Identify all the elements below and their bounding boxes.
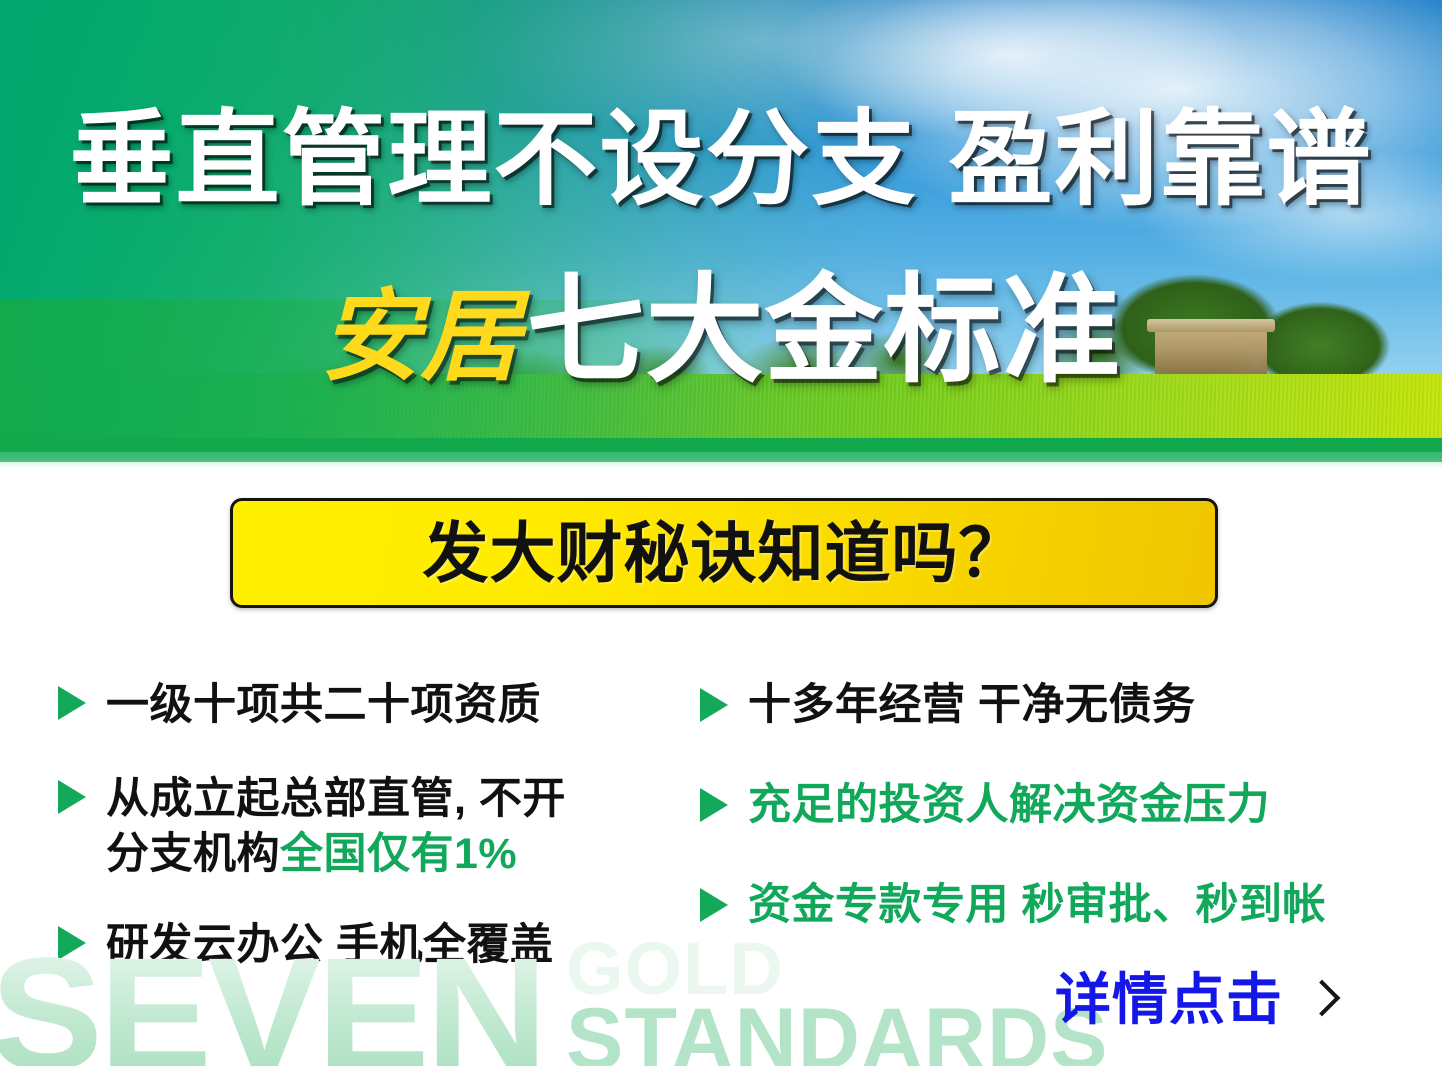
promo-poster: 垂直管理不设分支 盈利靠谱 安居七大金标准 发大财秘诀知道吗？ 一级十项共二十项… — [0, 0, 1442, 1066]
hero-fade-edge — [0, 452, 1442, 468]
question-banner-label: 发大财秘诀知道吗？ — [423, 520, 1026, 586]
list-item: 研发云办公 手机全覆盖 — [58, 918, 553, 973]
list-item: 从成立起总部直管, 不开 分支机构全国仅有1% — [58, 772, 566, 882]
list-item-label: 一级十项共二十项资质 — [106, 678, 541, 733]
hero-headline: 垂直管理不设分支 盈利靠谱 — [0, 108, 1442, 212]
list-item-label: 充足的投资人解决资金压力 — [748, 778, 1270, 833]
triangle-bullet-icon — [58, 686, 86, 720]
list-item: 一级十项共二十项资质 — [58, 678, 541, 733]
hero-banner: 垂直管理不设分支 盈利靠谱 安居七大金标准 — [0, 0, 1442, 462]
watermark-gold: GOLD — [566, 932, 784, 1006]
list-item: 充足的投资人解决资金压力 — [700, 778, 1270, 833]
list-item-label-highlight: 全国仅有1% — [280, 830, 517, 878]
triangle-bullet-icon — [58, 780, 86, 814]
watermark-standards: STANDARDS — [566, 996, 1109, 1066]
list-item: 十多年经营 干净无债务 — [700, 678, 1195, 733]
details-cta-label: 详情点击 — [1055, 972, 1283, 1028]
list-item-label: 研发云办公 手机全覆盖 — [106, 918, 553, 973]
triangle-bullet-icon — [700, 888, 728, 922]
chevron-right-icon — [1304, 980, 1341, 1017]
hero-subheadline: 安居七大金标准 — [0, 272, 1442, 390]
list-item-label: 从成立起总部直管, 不开 分支机构全国仅有1% — [106, 772, 566, 882]
hero-subheadline-accent: 安居 — [320, 281, 520, 393]
list-item-label: 十多年经营 干净无债务 — [748, 678, 1195, 733]
question-banner[interactable]: 发大财秘诀知道吗？ — [230, 498, 1218, 608]
list-item-label: 资金专款专用 秒审批、秒到帐 — [748, 878, 1326, 933]
list-item: 资金专款专用 秒审批、秒到帐 — [700, 878, 1326, 933]
details-cta[interactable]: 详情点击 — [1055, 972, 1335, 1028]
hero-subheadline-main: 七大金标准 — [526, 265, 1121, 397]
triangle-bullet-icon — [700, 788, 728, 822]
triangle-bullet-icon — [700, 688, 728, 722]
triangle-bullet-icon — [58, 926, 86, 960]
